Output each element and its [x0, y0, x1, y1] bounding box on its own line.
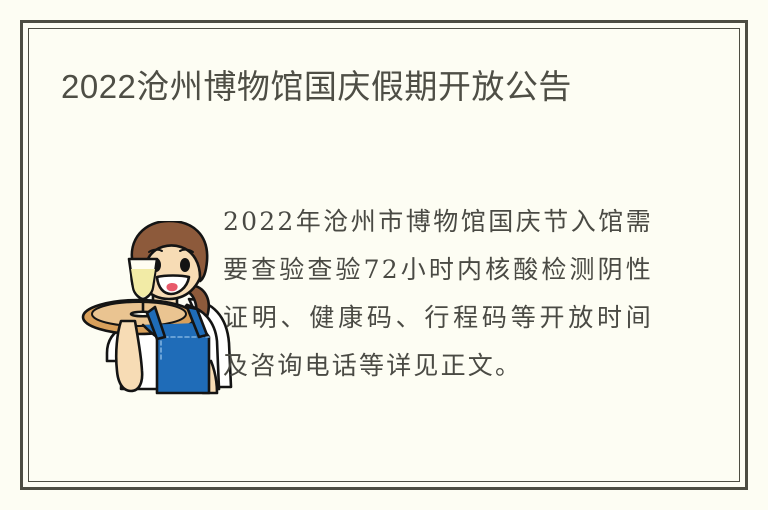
article-card: 2022沧州博物馆国庆假期开放公告	[20, 20, 748, 490]
page-title: 2022沧州博物馆国庆假期开放公告	[61, 61, 661, 113]
article-body-text: 2022年沧州市博物馆国庆节入馆需要查验查验72小时内核酸检测阴性证明、健康码、…	[223, 198, 653, 390]
eye-right	[180, 258, 190, 272]
tongue	[166, 283, 177, 291]
